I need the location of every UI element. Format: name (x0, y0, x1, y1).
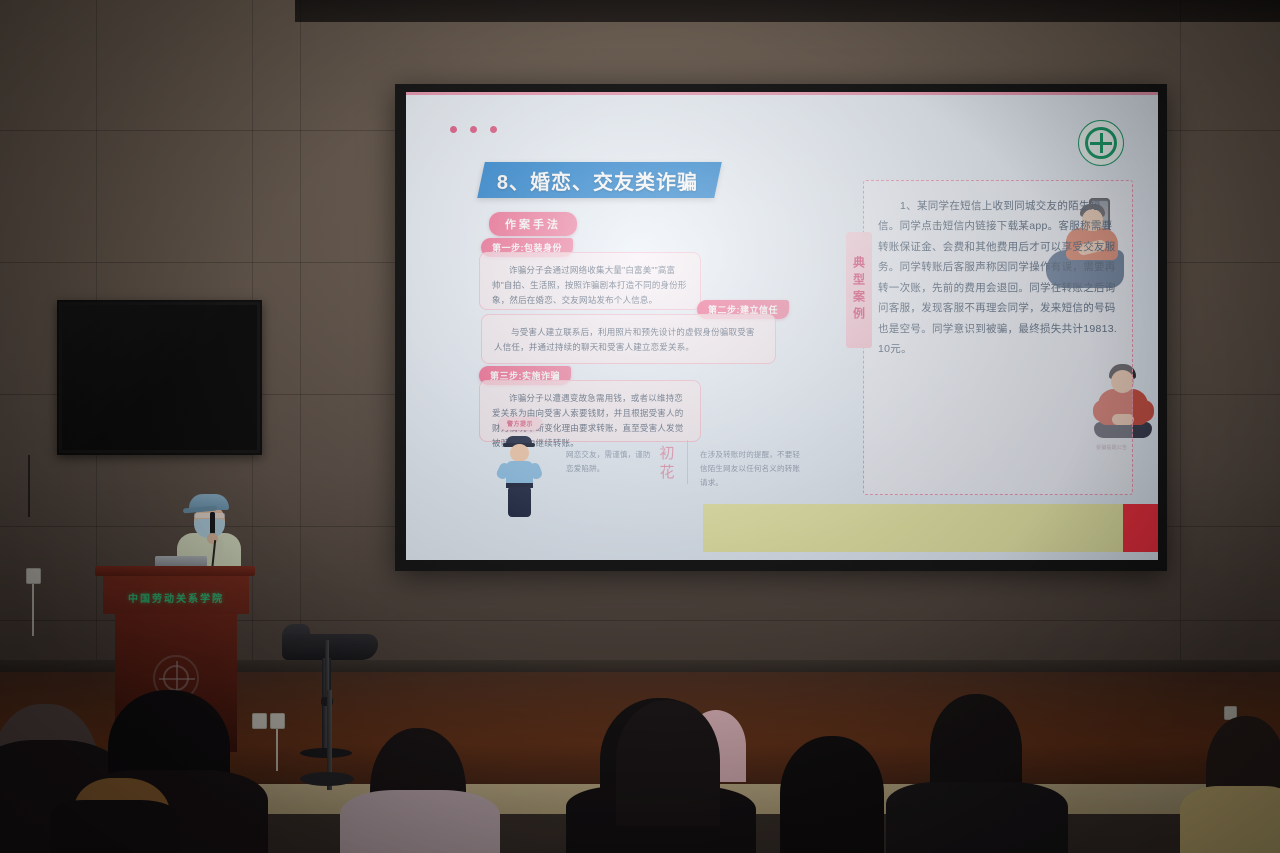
room-lighting-overlay (0, 0, 1280, 853)
auditorium-scene: 8、婚恋、交友类诈骗 作案手法 第一步:包装身份 诈骗分子会通过网络收集大量"白… (0, 0, 1280, 853)
